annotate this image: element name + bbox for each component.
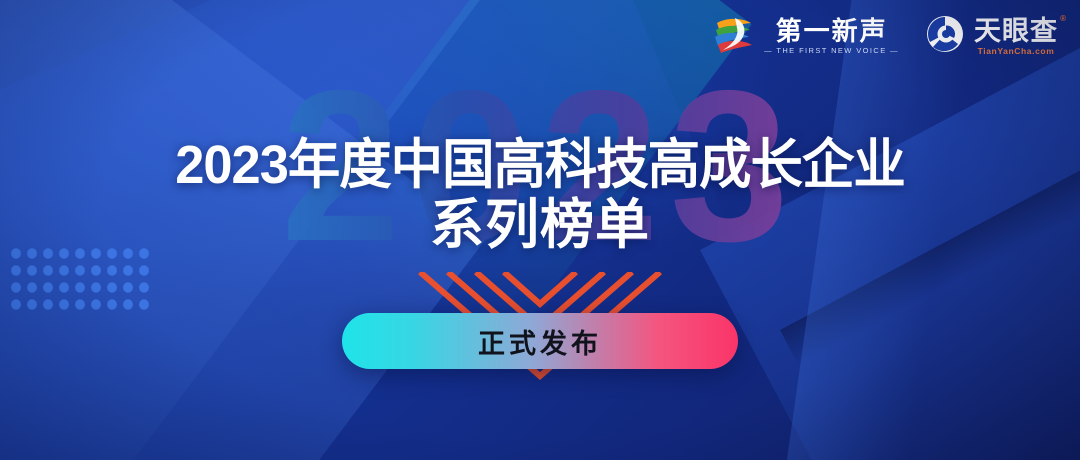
cta-row: 正式发布: [0, 313, 1080, 369]
tianyancha-logo-icon: [925, 14, 965, 59]
logo-first-new-voice: 第一新声 — THE FIRST NEW VOICE —: [711, 14, 899, 59]
logo-text-block: 第一新声 — THE FIRST NEW VOICE —: [764, 18, 899, 55]
logo-name-cn: 天眼查 ®: [974, 17, 1058, 45]
logo-name-cn: 第一新声: [776, 18, 888, 45]
release-status-pill[interactable]: 正式发布: [342, 313, 738, 369]
logo-tianyancha: 天眼查 ® TianYanCha.com: [925, 14, 1058, 59]
first-new-voice-logo-icon: [711, 14, 755, 59]
release-status-label: 正式发布: [478, 322, 602, 361]
trademark-mark: ®: [1060, 15, 1067, 23]
headline-line-2: 系列榜单: [0, 196, 1080, 254]
headline-line-1: 2023年度中国高科技高成长企业: [16, 136, 1064, 194]
logo-tagline-en: — THE FIRST NEW VOICE —: [764, 46, 899, 55]
logo-name-cn-text: 天眼查: [974, 16, 1058, 46]
promo-banner: 2023 第一新声: [0, 0, 1080, 460]
headline-block: 2023年度中国高科技高成长企业 系列榜单: [0, 136, 1080, 255]
logo-group: 第一新声 — THE FIRST NEW VOICE — 天眼查: [711, 14, 1058, 59]
logo-text-block: 天眼查 ® TianYanCha.com: [974, 17, 1058, 56]
logo-tagline-en: TianYanCha.com: [978, 46, 1055, 56]
